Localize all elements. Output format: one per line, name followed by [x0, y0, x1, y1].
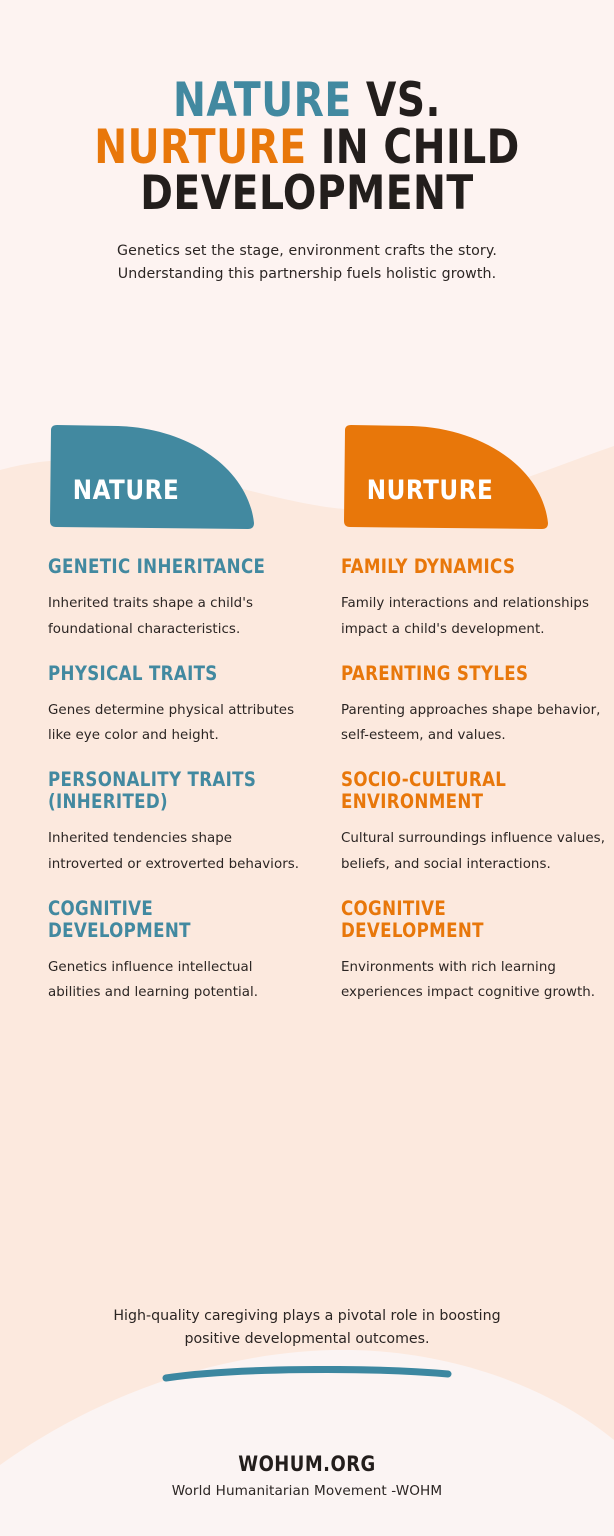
poster-footer: WOHUM.ORG World Humanitarian Movement -W… — [0, 1410, 614, 1536]
comparison-columns: Genetic Inheritance Inherited traits sha… — [0, 556, 614, 1006]
list-item: Parenting Styles Parenting approaches sh… — [341, 663, 607, 750]
list-item: Cognitive Development Genetics influence… — [48, 898, 308, 1007]
column-nature: Genetic Inheritance Inherited traits sha… — [48, 556, 308, 1006]
entry-title: Genetic Inheritance — [48, 556, 295, 578]
infographic-poster: Nature vs. Nurture in Child Development … — [0, 0, 614, 1536]
subtitle-line-1: Genetics set the stage, environment craf… — [58, 240, 556, 263]
footer-website: WOHUM.ORG — [15, 1410, 598, 1476]
banner-nature-label: Nature — [48, 449, 179, 506]
entry-title: Socio-Cultural Environment — [341, 769, 594, 813]
entry-body: Genes determine physical attributes like… — [48, 698, 308, 749]
title-line-1: Nature vs. — [49, 78, 564, 125]
entry-body: Family interactions and relationships im… — [341, 591, 607, 642]
entry-body: Genetics influence intellectual abilitie… — [48, 955, 308, 1006]
entry-body: Parenting approaches shape behavior, sel… — [341, 698, 607, 749]
poster-header: Nature vs. Nurture in Child Development … — [0, 0, 614, 286]
entry-title: Cognitive Development — [48, 898, 295, 942]
entry-body: Cultural surroundings influence values, … — [341, 826, 607, 877]
underline-swoosh-icon — [162, 1366, 452, 1382]
banner-nature: Nature — [48, 424, 256, 530]
subtitle-line-2: Understanding this partnership fuels hol… — [58, 263, 556, 286]
closing-line-2: positive developmental outcomes. — [56, 1328, 558, 1351]
entry-title: Cognitive Development — [341, 898, 594, 942]
title-line-3: Development — [49, 171, 564, 218]
title-line-2: Nurture in Child — [49, 125, 564, 172]
closing-note: High-quality caregiving plays a pivotal … — [0, 1305, 614, 1382]
page-title: Nature vs. Nurture in Child Development — [21, 0, 592, 218]
entry-title: Physical Traits — [48, 663, 295, 685]
banner-nurture-label: Nurture — [342, 449, 493, 506]
list-item: Personality Traits (Inherited) Inherited… — [48, 769, 308, 878]
footer-organization: World Humanitarian Movement -WOHM — [0, 1476, 614, 1499]
entry-body: Inherited traits shape a child's foundat… — [48, 591, 308, 642]
entry-title: Parenting Styles — [341, 663, 594, 685]
banner-nurture: Nurture — [342, 424, 550, 530]
list-item: Family Dynamics Family interactions and … — [341, 556, 607, 643]
closing-text: High-quality caregiving plays a pivotal … — [0, 1305, 614, 1350]
entry-body: Environments with rich learning experien… — [341, 955, 607, 1006]
list-item: Genetic Inheritance Inherited traits sha… — [48, 556, 308, 643]
entry-title: Family Dynamics — [341, 556, 594, 578]
list-item: Socio-Cultural Environment Cultural surr… — [341, 769, 607, 878]
list-item: Cognitive Development Environments with … — [341, 898, 607, 1007]
subtitle: Genetics set the stage, environment craf… — [0, 218, 614, 286]
list-item: Physical Traits Genes determine physical… — [48, 663, 308, 750]
entry-title: Personality Traits (Inherited) — [48, 769, 295, 813]
category-banners: Nature Nurture — [0, 424, 614, 536]
closing-line-1: High-quality caregiving plays a pivotal … — [56, 1305, 558, 1328]
entry-body: Inherited tendencies shape introverted o… — [48, 826, 308, 877]
column-nurture: Family Dynamics Family interactions and … — [341, 556, 607, 1006]
